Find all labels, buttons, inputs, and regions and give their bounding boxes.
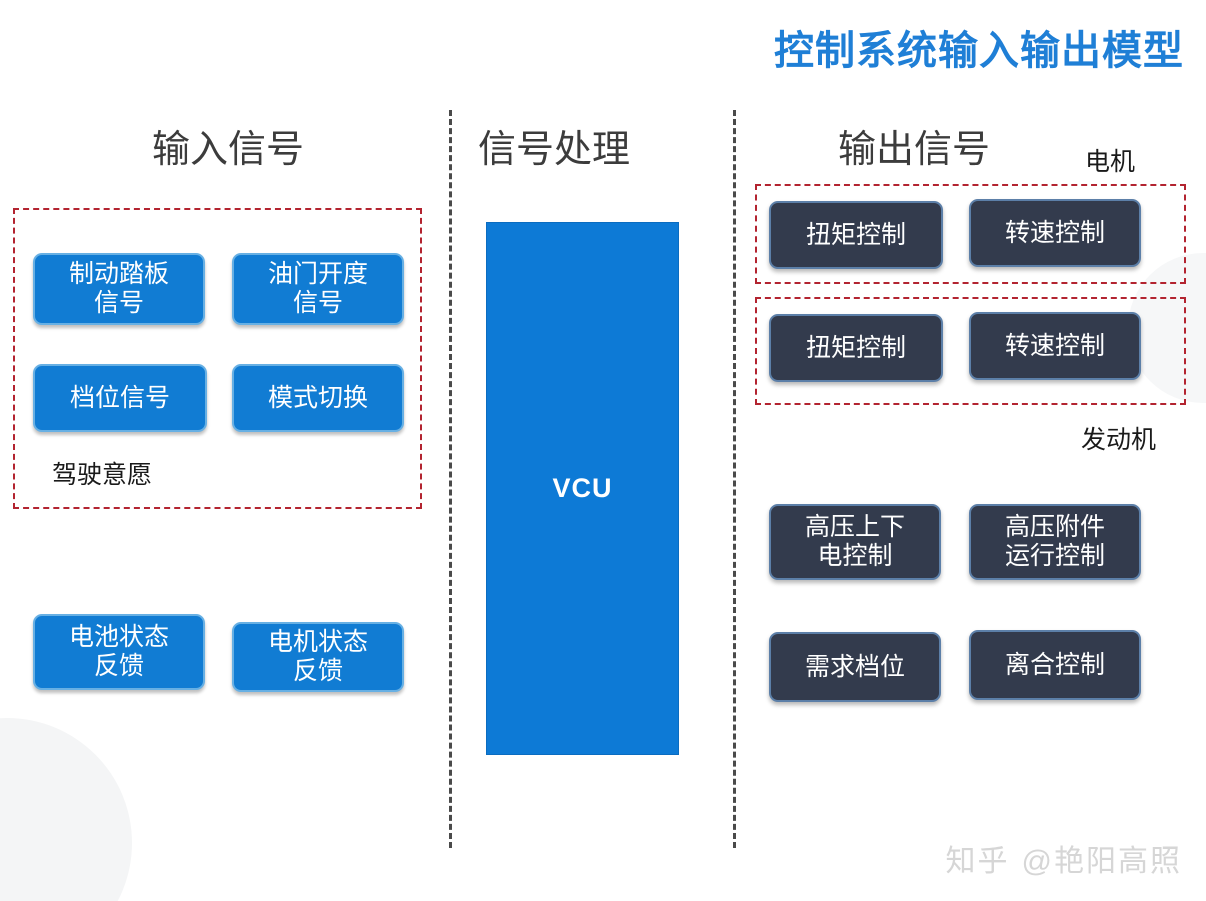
watermark-platform: 知乎 (946, 845, 1010, 878)
output-box-torque-control-1[interactable]: 扭矩控制 (769, 201, 943, 269)
driver-intent-group-label: 驾驶意愿 (52, 455, 152, 491)
input-box-battery-status-feedback-label: 电池状态 反馈 (69, 623, 169, 681)
input-box-battery-status-feedback[interactable]: 电池状态 反馈 (33, 614, 205, 690)
column-divider-right (733, 110, 736, 848)
output-box-speed-control-1[interactable]: 转速控制 (969, 199, 1141, 267)
output-box-requested-gear[interactable]: 需求档位 (769, 632, 941, 702)
diagram-canvas: 控制系统输入输出模型 输入信号 信号处理 输出信号 制动踏板 信号 油门开度 信… (0, 0, 1206, 901)
input-box-gear-signal[interactable]: 档位信号 (33, 364, 207, 432)
watermark: 知乎@艳阳高照 (946, 836, 1182, 880)
watermark-handle: @艳阳高照 (1022, 845, 1182, 878)
page-title: 控制系统输入输出模型 (774, 18, 1184, 76)
input-box-accelerator-opening-signal[interactable]: 油门开度 信号 (232, 253, 404, 325)
input-box-gear-signal-label: 档位信号 (70, 384, 170, 413)
input-box-motor-status-feedback[interactable]: 电机状态 反馈 (232, 622, 404, 692)
engine-group-tag: 发动机 (1081, 420, 1156, 456)
output-box-torque-control-2[interactable]: 扭矩控制 (769, 314, 943, 382)
column-header-output: 输出信号 (838, 118, 990, 173)
vcu-block-label: VCU (552, 473, 612, 504)
decorative-circle-bottom-left (0, 718, 132, 901)
output-box-hv-accessory-run-control-label: 高压附件 运行控制 (1005, 513, 1105, 571)
output-box-hv-power-on-off-control[interactable]: 高压上下 电控制 (769, 504, 941, 580)
column-divider-left (449, 110, 452, 848)
output-box-clutch-control[interactable]: 离合控制 (969, 630, 1141, 700)
output-box-speed-control-2-label: 转速控制 (1005, 332, 1105, 361)
output-box-hv-power-on-off-control-label: 高压上下 电控制 (805, 513, 905, 571)
output-box-clutch-control-label: 离合控制 (1005, 651, 1105, 680)
column-header-input: 输入信号 (152, 118, 304, 173)
vcu-block[interactable]: VCU (486, 222, 679, 755)
input-box-brake-pedal-signal[interactable]: 制动踏板 信号 (33, 253, 205, 325)
output-box-speed-control-2[interactable]: 转速控制 (969, 312, 1141, 380)
output-box-speed-control-1-label: 转速控制 (1005, 219, 1105, 248)
column-header-process: 信号处理 (478, 118, 630, 173)
input-box-accelerator-opening-signal-label: 油门开度 信号 (268, 260, 368, 318)
motor-group-tag: 电机 (1085, 142, 1135, 178)
input-box-mode-switch-label: 模式切换 (268, 384, 368, 413)
input-box-motor-status-feedback-label: 电机状态 反馈 (268, 628, 368, 686)
output-box-torque-control-2-label: 扭矩控制 (806, 334, 906, 363)
input-box-mode-switch[interactable]: 模式切换 (232, 364, 404, 432)
output-box-requested-gear-label: 需求档位 (805, 653, 905, 682)
input-box-brake-pedal-signal-label: 制动踏板 信号 (69, 260, 169, 318)
output-box-hv-accessory-run-control[interactable]: 高压附件 运行控制 (969, 504, 1141, 580)
output-box-torque-control-1-label: 扭矩控制 (806, 221, 906, 250)
